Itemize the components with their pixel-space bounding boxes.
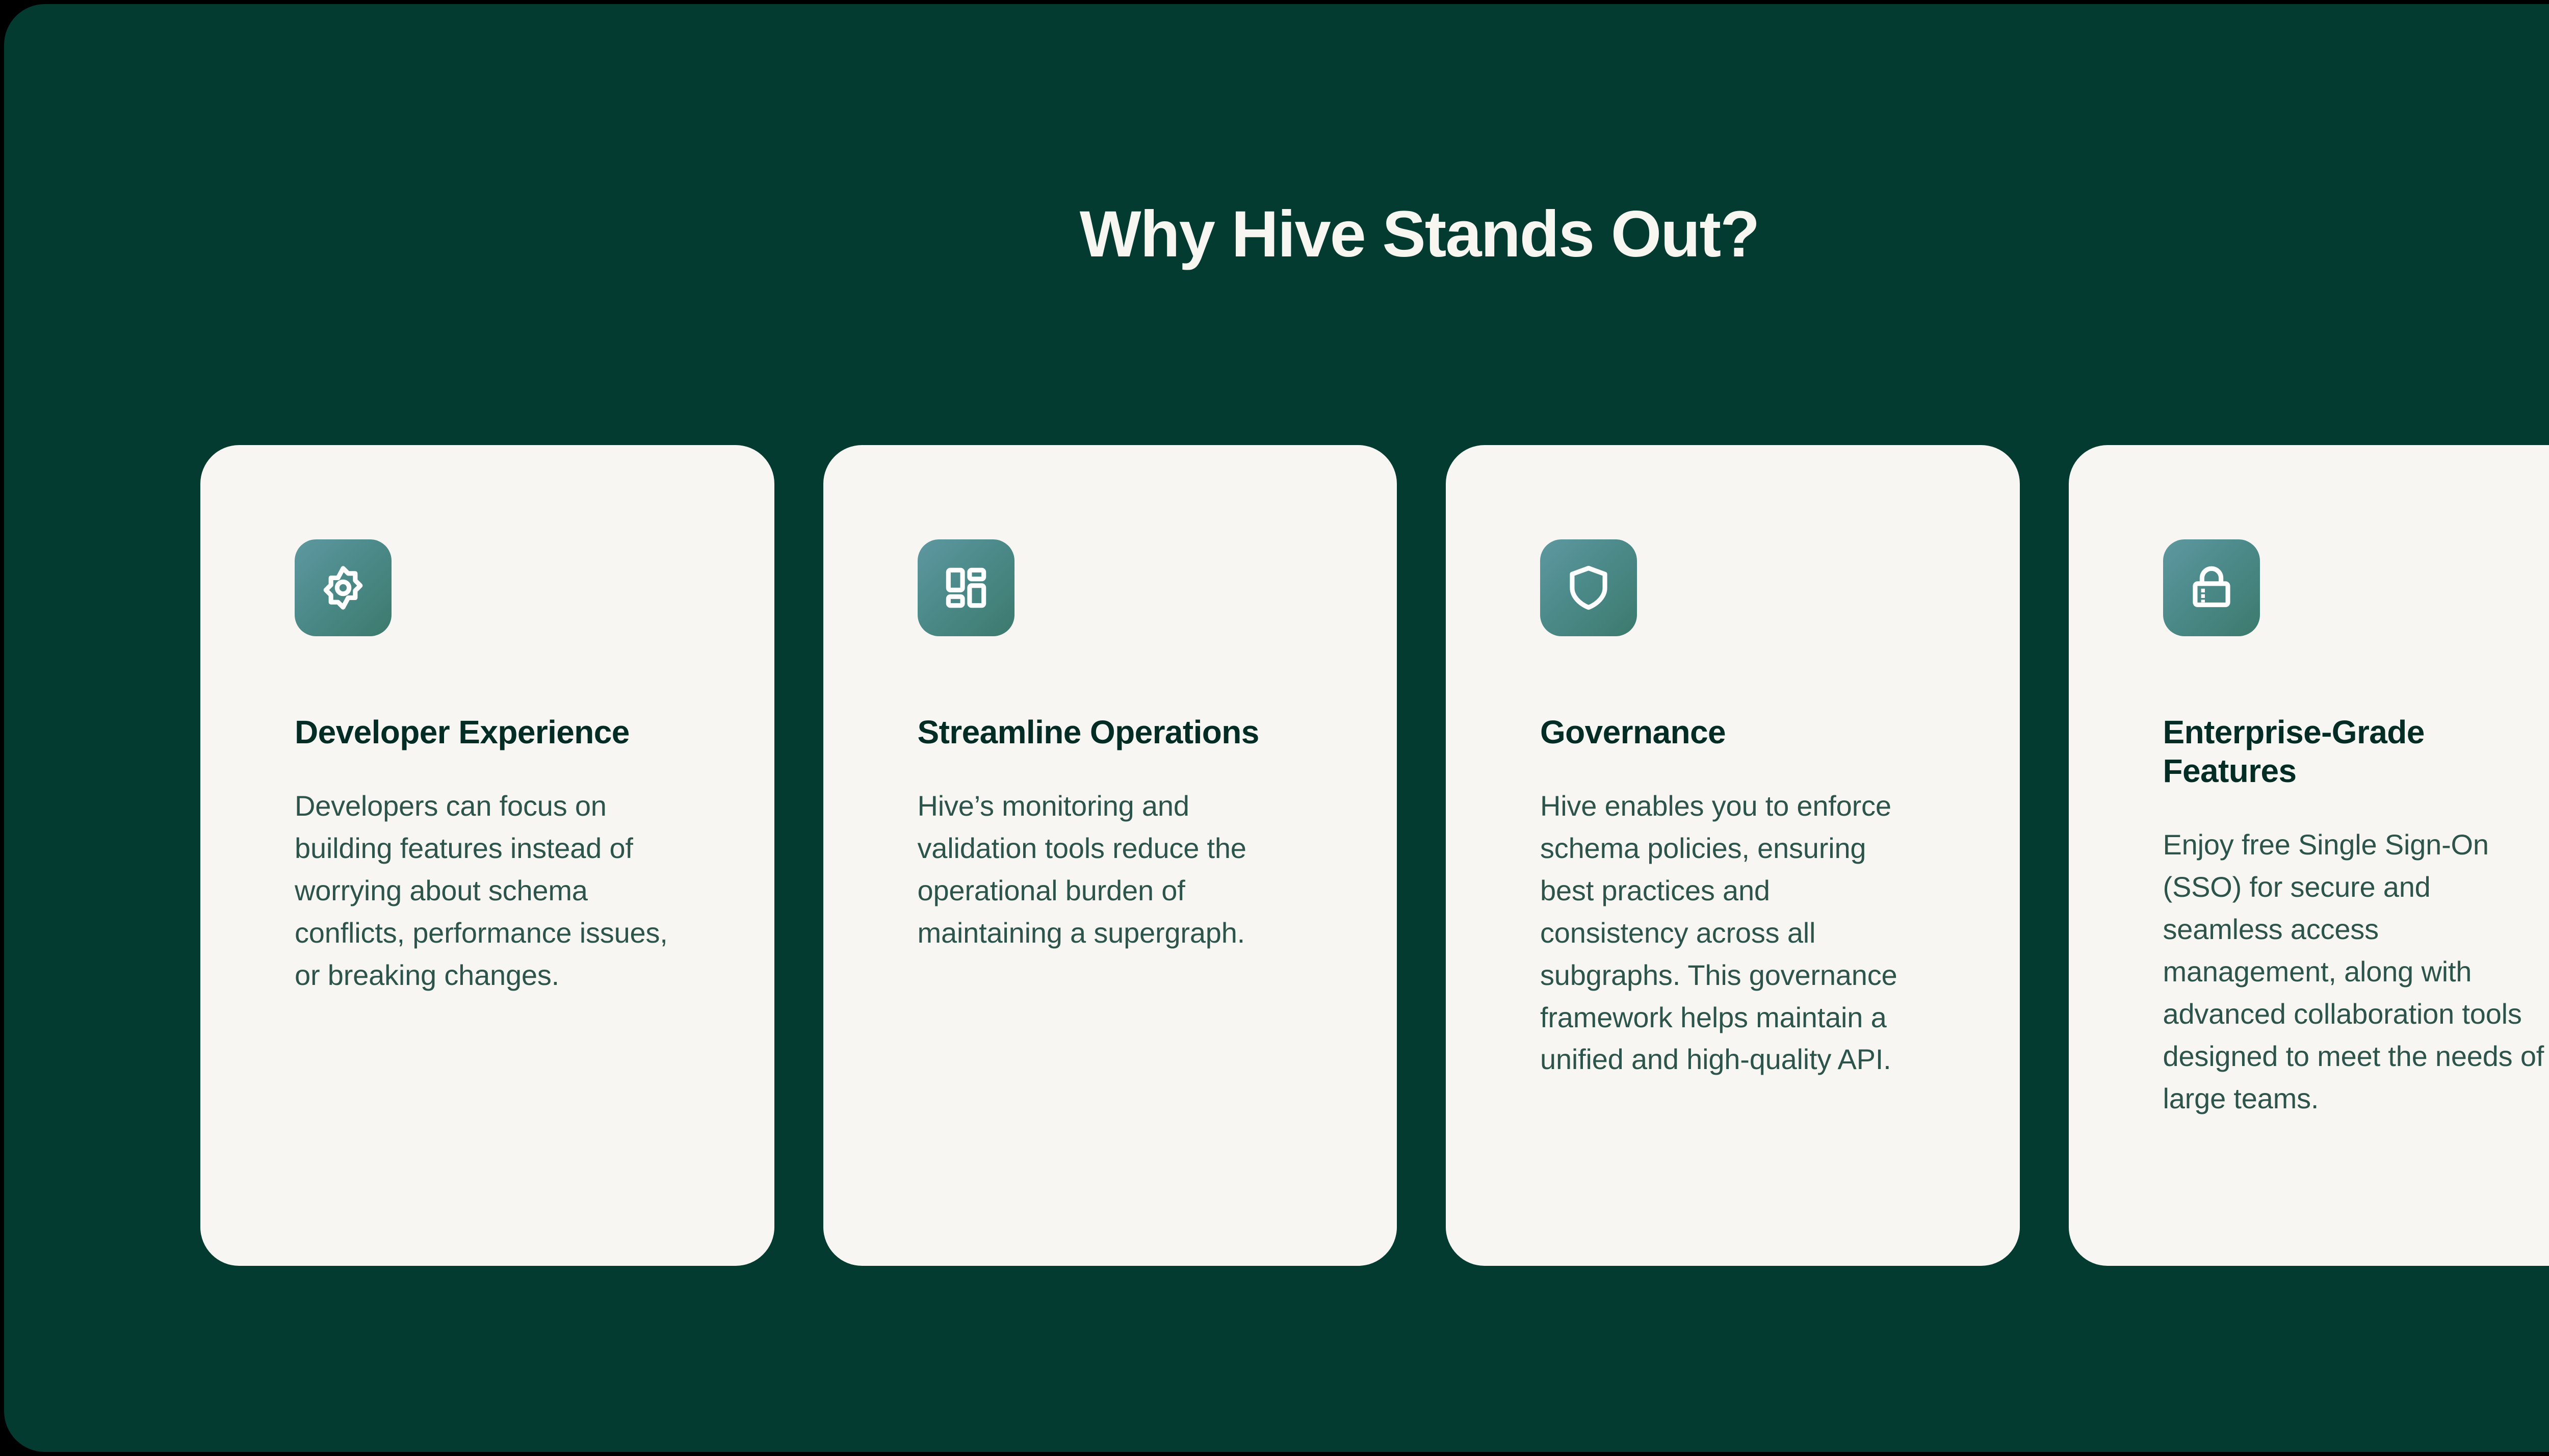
feature-card-governance[interactable]: Governance Hive enables you to enforce s… (1446, 445, 2020, 1266)
gear-icon (317, 561, 370, 614)
card-body: Developers can focus on building feature… (295, 785, 680, 996)
card-title: Developer Experience (295, 713, 630, 751)
shield-icon (1562, 561, 1615, 614)
feature-card-developer-experience[interactable]: Developer Experience Developers can focu… (200, 445, 774, 1266)
feature-card-streamline-operations[interactable]: Streamline Operations Hive’s monitoring … (823, 445, 1397, 1266)
feature-card-list: Developer Experience Developers can focu… (200, 445, 2549, 1266)
gear-icon-tile (295, 539, 392, 636)
card-body: Hive enables you to enforce schema polic… (1540, 785, 1926, 1081)
dashboard-grid-icon-tile (918, 539, 1015, 636)
dashboard-grid-icon (940, 561, 993, 614)
shield-icon-tile (1540, 539, 1637, 636)
feature-card-enterprise-grade-features[interactable]: Enterprise-Grade Features Enjoy free Sin… (2069, 445, 2549, 1266)
lock-icon-tile (2163, 539, 2260, 636)
card-body: Enjoy free Single Sign-On (SSO) for secu… (2163, 824, 2548, 1120)
card-title: Governance (1540, 713, 1726, 751)
page-panel: Why Hive Stands Out? Developer Experienc… (4, 4, 2549, 1452)
card-title: Streamline Operations (918, 713, 1259, 751)
card-body: Hive’s monitoring and validation tools r… (918, 785, 1303, 954)
page-title: Why Hive Stands Out? (4, 198, 2549, 271)
lock-icon (2185, 561, 2238, 614)
card-title: Enterprise-Grade Features (2163, 713, 2548, 790)
